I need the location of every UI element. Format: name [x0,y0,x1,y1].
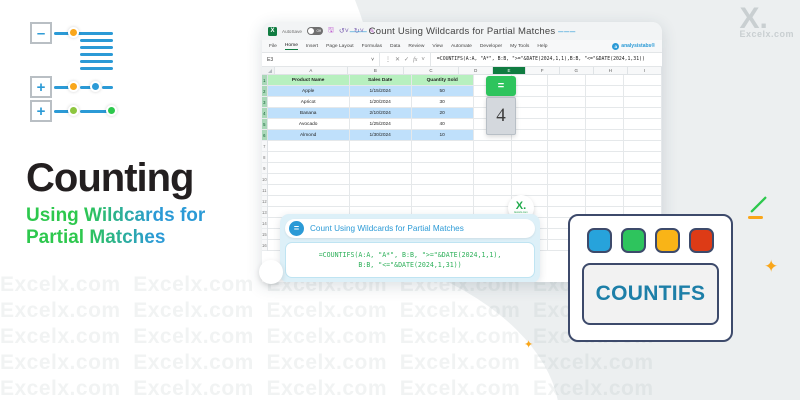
cell-c8[interactable] [412,152,474,163]
cell-h3[interactable] [624,97,662,108]
cell-c12[interactable] [412,196,474,207]
cell-g3[interactable] [586,97,624,108]
cell-h11[interactable] [624,185,662,196]
row-header-5[interactable]: 5 [262,119,267,130]
cell-e10[interactable] [512,174,548,185]
page-subtitle: Using Wildcards for Partial Matches [26,205,241,250]
tab-automate[interactable]: Automate [451,44,472,49]
cell-b8[interactable] [350,152,412,163]
cell-g5[interactable] [586,119,624,130]
cell-a11[interactable] [268,185,350,196]
cell-h12[interactable] [624,196,662,207]
autosave-state-label: Off [316,29,320,33]
list-line [80,67,113,70]
cell-f6[interactable] [548,130,586,141]
cell-h5[interactable] [624,119,662,130]
plus-box-icon-2: + [30,100,52,122]
cell-e7[interactable] [512,141,548,152]
cell-a6[interactable]: Almond [268,130,350,141]
cell-b10[interactable] [350,174,412,185]
cell-g10[interactable] [586,174,624,185]
row-header-1[interactable]: 1 [262,75,267,86]
name-box[interactable]: E3 ˅ [262,53,380,66]
cell-b4[interactable]: 2/10/2024 [350,108,412,119]
cell-b12[interactable] [350,196,412,207]
cell-b3[interactable]: 1/20/2024 [350,97,412,108]
cell-d9[interactable] [474,163,512,174]
cell-f2[interactable] [548,86,586,97]
excel-logo-icon: X [268,27,277,36]
tab-insert[interactable]: Insert [306,44,318,49]
slider-handle-blue [90,81,101,92]
cell-e1[interactable] [512,75,548,86]
slider-handle-orange [68,27,79,38]
cell-d8[interactable] [474,152,512,163]
cell-g2[interactable] [586,86,624,97]
list-line [80,46,113,49]
cell-e5[interactable] [512,119,548,130]
redo-icon[interactable]: ↻˅ [354,27,364,35]
equals-circle-icon: = [289,221,304,236]
table-row: Almond 1/30/2024 10 [268,130,662,141]
row-header-7[interactable]: 7 [262,141,267,152]
row-header-10[interactable]: 10 [262,174,267,185]
row-header-2[interactable]: 2 [262,86,267,97]
cell-e9[interactable] [512,163,548,174]
tab-file[interactable]: File [269,44,277,49]
confirm-icon[interactable]: ✓ [404,56,409,63]
tab-page-layout[interactable]: Page Layout [326,44,353,49]
more-options-icon[interactable]: ⋮ [385,56,391,63]
autosave-toggle-knob [308,28,314,34]
cell-h6[interactable] [624,130,662,141]
insert-function-icon[interactable]: fx [413,57,417,63]
cell-g11[interactable] [586,185,624,196]
autosave-toggle[interactable]: Off [307,27,323,35]
page-title: Counting [26,158,241,198]
cancel-icon[interactable]: ✕ [395,56,400,63]
cell-a8[interactable] [268,152,350,163]
row-header-9[interactable]: 9 [262,163,267,174]
countifs-label: COUNTIFS [596,282,706,306]
cell-a7[interactable] [268,141,350,152]
row-header-3[interactable]: 3 [262,97,267,108]
cell-a2[interactable]: Apple [268,86,350,97]
column-header-b[interactable]: B [348,67,404,74]
cell-c3[interactable]: 30 [412,97,474,108]
cell-g6[interactable] [586,130,624,141]
list-line [80,53,113,56]
excel-title-bar: X AutoSave Off 🖫 ↺˅ ↻˅ ✎ – – – Count Usi… [262,22,662,40]
list-line [80,60,113,63]
column-header-f[interactable]: F [526,67,560,74]
analysistabs-logo-icon: a [612,43,619,50]
cell-d7[interactable] [474,141,512,152]
row-header-6[interactable]: 6 [262,130,267,141]
plus-box-icon-1: + [30,76,52,98]
decorative-circle [259,260,283,284]
dot-yellow-icon [655,228,680,253]
table-row [268,141,662,152]
cell-h2[interactable] [624,86,662,97]
callout-title: Count Using Wildcards for Partial Matche… [310,224,464,233]
cell-a3[interactable]: Apricot [268,97,350,108]
cell-b5[interactable]: 1/25/2024 [350,119,412,130]
callout-formula-line-2: B:B, "<="&DATE(2024,1,31)) [292,260,528,270]
countifs-dots-row [582,228,719,253]
slider-track [102,86,113,89]
cell-g12[interactable] [586,196,624,207]
cell-c2[interactable]: 50 [412,86,474,97]
sparkle-icon-small: ✦ [524,340,533,351]
dot-red-icon [689,228,714,253]
cell-a10[interactable] [268,174,350,185]
column-header-i[interactable]: I [628,67,662,74]
cell-f10[interactable] [548,174,586,185]
countifs-label-box: COUNTIFS [582,263,719,325]
cell-e3[interactable] [512,97,548,108]
row-header-16[interactable]: 16 [262,240,267,251]
excel-formula-bar: E3 ˅ ⋮ ✕ ✓ fx ˅ =COUNTIFS(A:A, "A*", B:B… [262,53,662,67]
cell-a12[interactable] [268,196,350,207]
cell-f4[interactable] [548,108,586,119]
row-header-11[interactable]: 11 [262,185,267,196]
equals-badge: = [486,76,516,96]
cell-h1[interactable] [624,75,662,86]
cell-f9[interactable] [548,163,586,174]
column-header-e[interactable]: E [493,67,525,74]
tab-data[interactable]: Data [390,44,400,49]
orange-bar-decoration [748,216,763,219]
cell-b7[interactable] [350,141,412,152]
cell-c1[interactable]: Quantity Sold [412,75,474,86]
cell-g7[interactable] [586,141,624,152]
row-header-12[interactable]: 12 [262,196,267,207]
cell-f1[interactable] [548,75,586,86]
cell-c7[interactable] [412,141,474,152]
cell-a1[interactable]: Product Name [268,75,350,86]
cell-h4[interactable] [624,108,662,119]
table-row [268,196,662,207]
dot-green-icon [621,228,646,253]
callout-formula: =COUNTIFS(A:A, "A*", B:B, ">="&DATE(2024… [285,242,535,278]
cell-f11[interactable] [548,185,586,196]
cell-b2[interactable]: 1/15/2024 [350,86,412,97]
column-header-row: A B C D E F G H I [262,67,662,75]
title-dash-right: – – – [558,26,574,37]
tab-review[interactable]: Review [408,44,424,49]
cell-e4[interactable] [512,108,548,119]
cell-h9[interactable] [624,163,662,174]
name-box-value: E3 [267,57,273,63]
formula-callout-panel: = Count Using Wildcards for Partial Matc… [280,214,540,282]
cell-c4[interactable]: 20 [412,108,474,119]
cell-b1[interactable]: Sales Date [350,75,412,86]
countifs-card: COUNTIFS [568,214,733,342]
cell-b6[interactable]: 1/30/2024 [350,130,412,141]
row-header-13[interactable]: 13 [262,207,267,218]
cell-f7[interactable] [548,141,586,152]
row-header-14[interactable]: 14 [262,218,267,229]
save-icon[interactable]: 🖫 [328,26,334,37]
formula-input[interactable]: =COUNTIFS(A:A, "A*", B:B, ">="&DATE(2024… [431,57,645,62]
excelx-watermark-logo: X. Excelx.com [739,4,794,39]
cell-d10[interactable] [474,174,512,185]
sparkle-icon-large: ✦ [764,258,778,275]
callout-header: = Count Using Wildcards for Partial Matc… [285,219,535,238]
excelx-watermark-caption: Excelx.com [739,30,794,39]
row-header-8[interactable]: 8 [262,152,267,163]
excel-ribbon-tabs: File Home Insert Page Layout Formulas Da… [262,40,662,53]
cell-h8[interactable] [624,152,662,163]
cell-d12[interactable] [474,196,512,207]
row-header-15[interactable]: 15 [262,229,267,240]
cell-f12[interactable] [548,196,586,207]
cell-a9[interactable] [268,163,350,174]
table-row: Banana 2/10/2024 20 [268,108,662,119]
title-text: Count Using Wildcards for Partial Matche… [369,26,556,37]
table-row [268,185,662,196]
slider-handle-green [106,105,117,116]
table-row: Avocado 1/25/2024 40 [268,119,662,130]
table-row [268,174,662,185]
cell-g9[interactable] [586,163,624,174]
result-value-badge: 4 [486,97,516,135]
table-row-header: Product Name Sales Date Quantity Sold [268,75,662,86]
callout-formula-line-1: =COUNTIFS(A:A, "A*", B:B, ">="&DATE(2024… [292,250,528,260]
cell-h10[interactable] [624,174,662,185]
tab-view[interactable]: View [432,44,443,49]
cell-c5[interactable]: 40 [412,119,474,130]
equals-symbol: = [498,83,504,90]
autosave-label: AutoSave [282,29,302,34]
analysistabs-brand: a analysistabs® [612,43,655,50]
green-slash-icon [750,196,768,214]
formula-bar-controls: ⋮ ✕ ✓ fx ˅ [380,53,431,66]
column-header-a[interactable]: A [275,67,348,74]
cell-b11[interactable] [350,185,412,196]
cell-c6[interactable]: 10 [412,130,474,141]
slider-track [77,32,113,35]
cell-g4[interactable] [586,108,624,119]
cell-e2[interactable] [512,86,548,97]
cell-d11[interactable] [474,185,512,196]
cell-e6[interactable] [512,130,548,141]
cell-g8[interactable] [586,152,624,163]
cell-f3[interactable] [548,97,586,108]
select-all-corner[interactable] [262,67,275,74]
cell-a5[interactable]: Avocado [268,119,350,130]
table-row: Apple 1/15/2024 50 [268,86,662,97]
column-header-h[interactable]: H [594,67,628,74]
table-row [268,152,662,163]
column-header-c[interactable]: C [404,67,460,74]
cell-e8[interactable] [512,152,548,163]
list-line [80,39,113,42]
cell-h7[interactable] [624,141,662,152]
slider-handle-orange [68,81,79,92]
pen-icon[interactable]: ✎ [369,27,375,35]
row-header-4[interactable]: 4 [262,108,267,119]
headline-block: Counting Using Wildcards for Partial Mat… [26,158,241,250]
table-row [268,163,662,174]
slider-handle-lightgreen [68,105,79,116]
cell-b9[interactable] [350,163,412,174]
undo-icon[interactable]: ↺˅ [339,27,349,35]
tab-my-tools[interactable]: My Tools [510,44,529,49]
result-value: 4 [496,105,506,127]
cell-f8[interactable] [548,152,586,163]
cell-c10[interactable] [412,174,474,185]
tab-help[interactable]: Help [537,44,547,49]
cell-c9[interactable] [412,163,474,174]
cell-f5[interactable] [548,119,586,130]
column-header-g[interactable]: G [560,67,594,74]
chevron-down-icon[interactable]: ˅ [421,57,425,63]
table-row: Apricot 1/20/2024 30 [268,97,662,108]
dot-blue-icon [587,228,612,253]
column-header-d[interactable]: D [459,67,493,74]
cell-a4[interactable]: Banana [268,108,350,119]
minus-box-icon: – [30,22,52,44]
cell-g1[interactable] [586,75,624,86]
tab-home[interactable]: Home [285,43,298,50]
analysistabs-brand-label: analysistabs® [621,43,655,49]
tab-formulas[interactable]: Formulas [362,44,382,49]
chevron-down-icon[interactable]: ˅ [371,57,374,63]
tab-developer[interactable]: Developer [480,44,502,49]
cell-c11[interactable] [412,185,474,196]
